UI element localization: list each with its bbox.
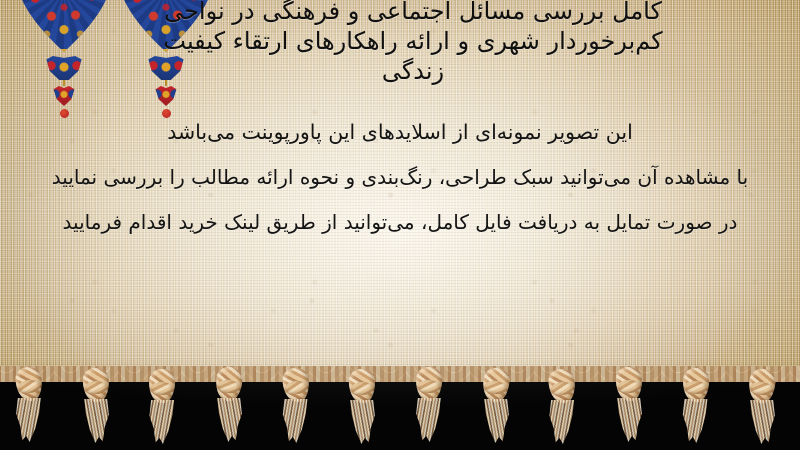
carpet-tassel (281, 368, 311, 443)
tassel-knot (214, 366, 243, 402)
tassel-knot (548, 368, 577, 405)
carpet-tassel (481, 368, 511, 443)
slide-title: کامل بررسی مسائل اجتماعی و فرهنگی در نوا… (0, 0, 800, 86)
carpet-tassel (614, 367, 644, 442)
slide-title-line-3: زندگی (26, 56, 800, 86)
slide-title-line-2: کم‌برخوردار شهری و ارائه راهکارهای ارتقا… (26, 26, 800, 56)
tassel-strands (348, 400, 376, 444)
tassel-knot (14, 366, 43, 402)
carpet-tassel (347, 369, 377, 444)
carpet-tassel (547, 369, 577, 444)
carpet-tassel (681, 368, 711, 443)
tassel-knot (415, 367, 442, 402)
carpet-tassel (747, 369, 777, 444)
tassel-strands (15, 398, 43, 442)
tassel-knot (682, 368, 709, 403)
tassel-knot (615, 367, 642, 402)
tassel-strands (548, 400, 576, 444)
presentation-slide: کامل بررسی مسائل اجتماعی و فرهنگی در نوا… (0, 0, 800, 450)
slide-body-line-2: با مشاهده آن می‌توانید سبک طراحی، رنگ‌بن… (0, 155, 800, 200)
carpet-fringe-band (0, 366, 800, 450)
tassel-knot (349, 369, 376, 404)
slide-title-line-1: کامل بررسی مسائل اجتماعی و فرهنگی در نوا… (26, 0, 800, 26)
tassel-strands (215, 398, 243, 442)
slide-text-layer: کامل بررسی مسائل اجتماعی و فرهنگی در نوا… (0, 0, 800, 374)
slide-body: این تصویر نمونه‌ای از اسلایدهای این پاور… (0, 110, 800, 245)
carpet-tassel (214, 367, 244, 442)
tassel-knot (82, 368, 109, 403)
tassel-strands (148, 400, 176, 444)
slide-body-line-3: در صورت تمایل به دریافت فایل کامل، می‌تو… (0, 200, 800, 245)
tassel-strands (748, 400, 776, 444)
tassel-knot (748, 368, 777, 405)
tassel-strands (415, 398, 443, 442)
carpet-tassel (414, 367, 444, 442)
carpet-tassel (81, 368, 111, 443)
carpet-tassel (14, 367, 44, 442)
tassel-strands (482, 399, 510, 443)
carpet-tassel (147, 369, 177, 444)
tassel-strands (682, 399, 710, 443)
slide-body-line-1: این تصویر نمونه‌ای از اسلایدهای این پاور… (0, 110, 800, 155)
tassel-strands (615, 398, 643, 442)
tassel-knot (149, 369, 176, 404)
tassel-strands (282, 399, 310, 443)
tassel-strands (82, 399, 110, 443)
tassel-knot (481, 367, 510, 404)
tassel-knot (281, 367, 310, 404)
